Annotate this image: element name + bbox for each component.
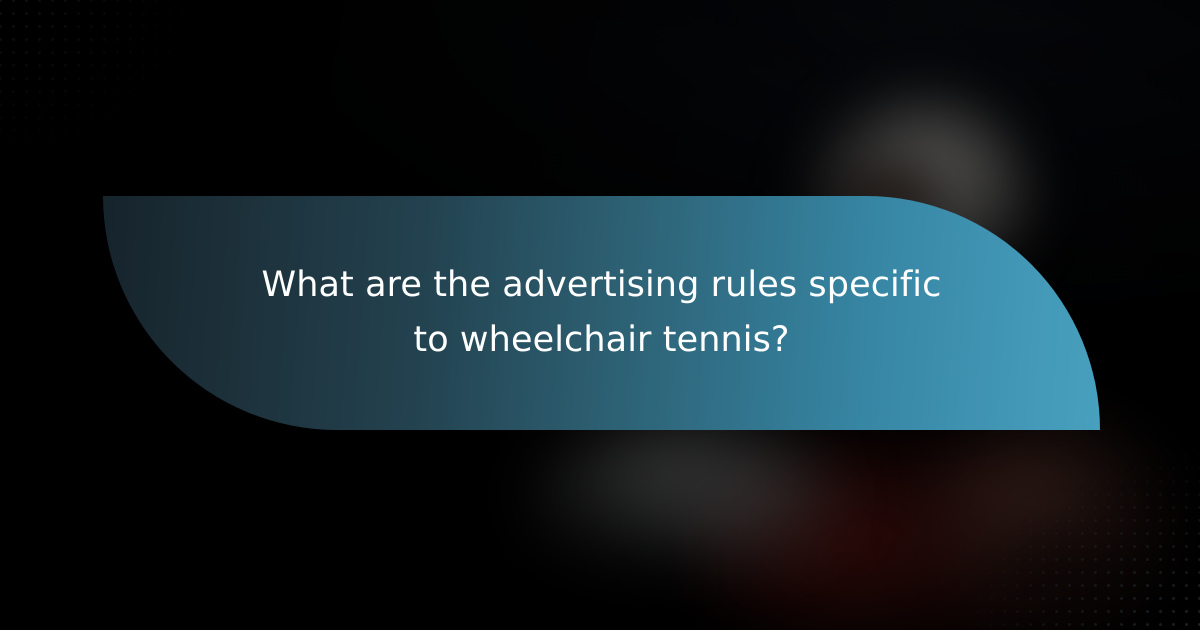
halftone-dots-icon-top-left (0, 0, 224, 184)
question-title: What are the advertising rules specific … (242, 258, 962, 368)
halftone-dots-icon-bottom-right (946, 436, 1200, 630)
question-banner: What are the advertising rules specific … (103, 196, 1100, 430)
question-card-canvas: What are the advertising rules specific … (0, 0, 1200, 630)
